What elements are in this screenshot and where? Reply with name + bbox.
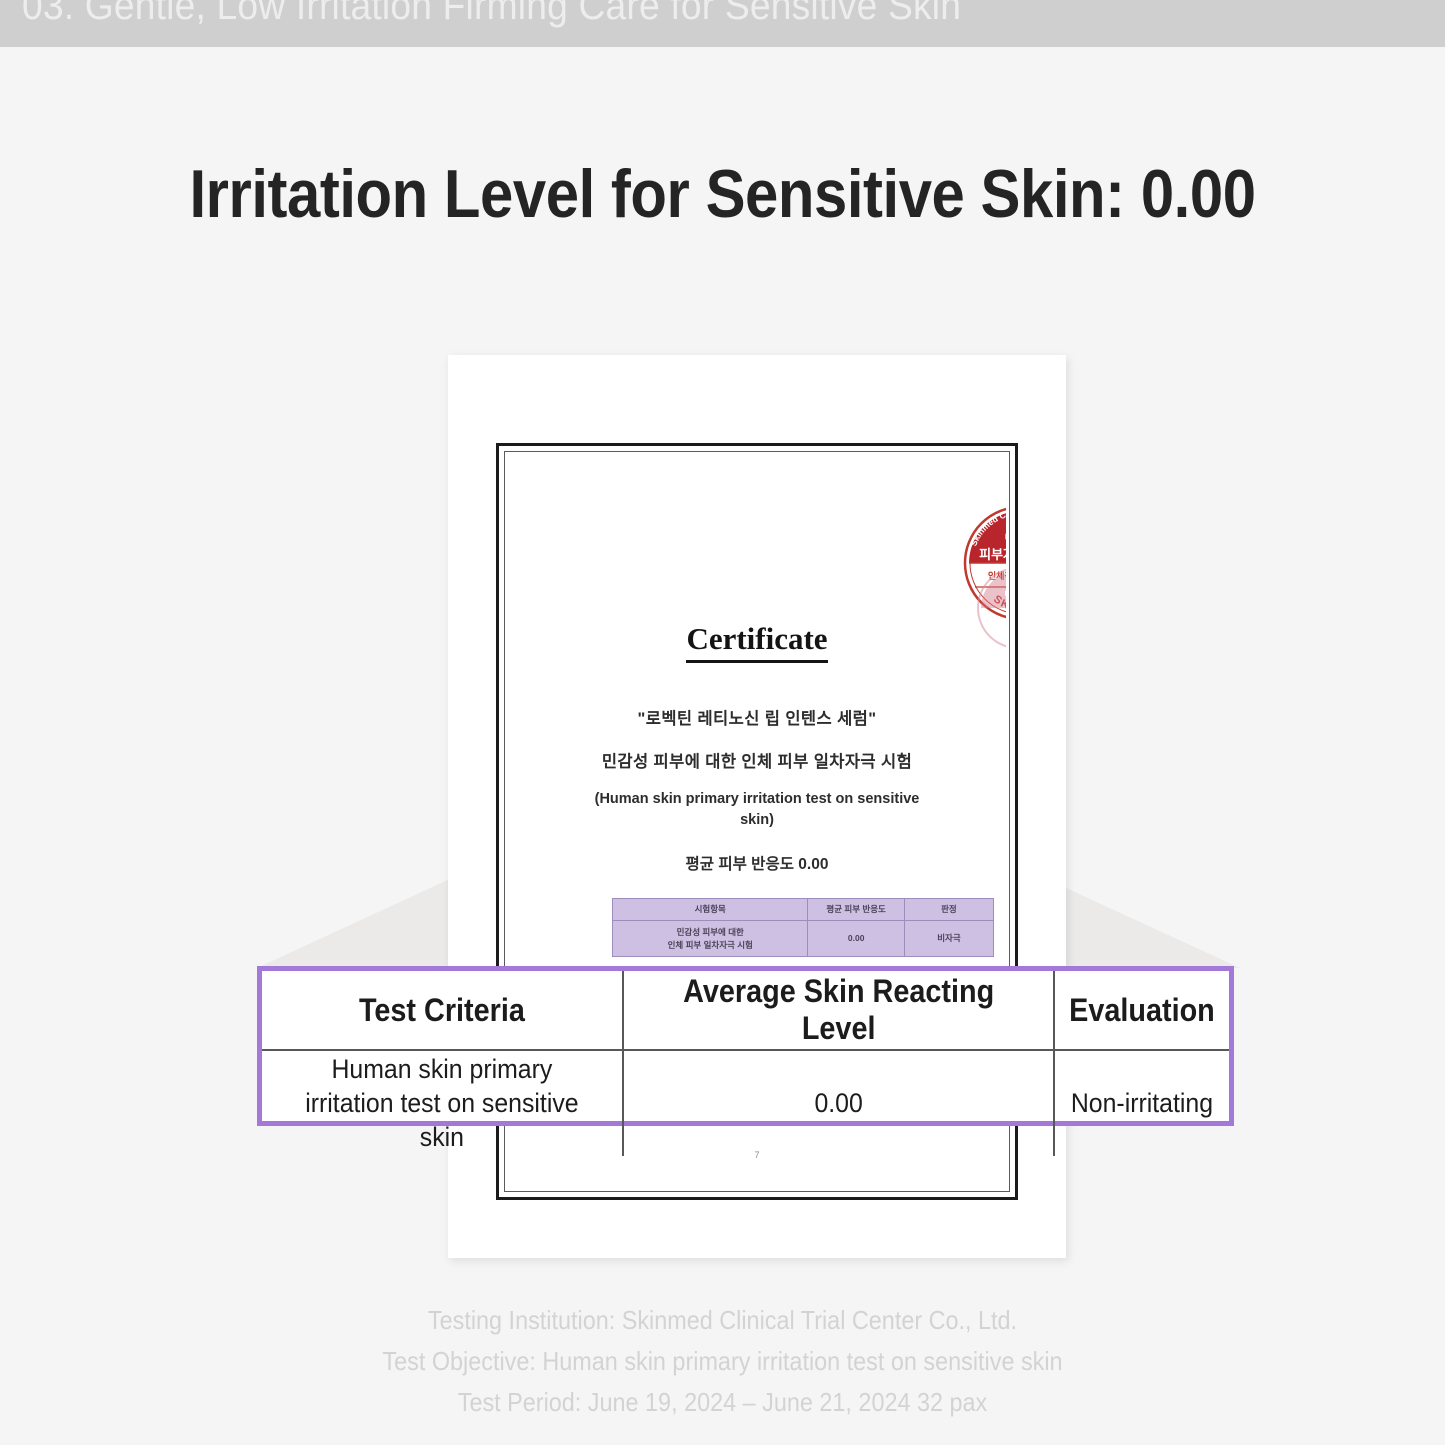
page-title: Irritation Level for Sensitive Skin: 0.0… xyxy=(87,155,1359,233)
mini-table-header-level: 평균 피부 반응도 xyxy=(808,899,904,921)
certificate-result-table: 시험항목 평균 피부 반응도 판정 민감성 피부에 대한인체 피부 일차자극 시… xyxy=(612,898,994,957)
mini-table-cell-evaluation: 비자극 xyxy=(904,920,993,957)
certificate-test-name-en: (Human skin primary irritation test on s… xyxy=(578,789,936,831)
section-banner: 03. Gentle, Low Irritation Firming Care … xyxy=(0,0,1445,47)
criteria-line-1: Human skin primary xyxy=(331,1054,552,1084)
certificate-test-name-ko: 민감성 피부에 대한 인체 피부 일차자극 시험 xyxy=(508,748,1006,772)
mini-table-header-criteria: 시험항목 xyxy=(613,899,808,921)
certificate-heading: Certificate xyxy=(508,621,1006,657)
overlay-header-evaluation: Evaluation xyxy=(1063,971,1221,1050)
mini-table-cell-level: 0.00 xyxy=(808,920,904,957)
footer-test-period: Test Period: June 19, 2024 – June 21, 20… xyxy=(72,1382,1373,1423)
criteria-line-2: irritation test on sensitive skin xyxy=(305,1088,578,1152)
banner-title: 03. Gentle, Low Irritation Firming Care … xyxy=(22,0,961,29)
mini-table-cell-criteria: 민감성 피부에 대한인체 피부 일차자극 시험 xyxy=(613,920,808,957)
table-row: 민감성 피부에 대한인체 피부 일차자극 시험 0.00 비자극 xyxy=(613,920,994,957)
overlay-header-test-criteria: Test Criteria xyxy=(280,971,605,1050)
certificate-average-reaction: 평균 피부 반응도 0.00 xyxy=(508,852,1006,874)
svg-text:민감성: 민감성 xyxy=(1004,531,1006,546)
svg-text:민감성: 민감성 xyxy=(1004,589,1006,602)
magnified-result-table: Test Criteria Average Skin Reacting Leve… xyxy=(257,966,1234,1126)
footer-info: Testing Institution: Skinmed Clinical Tr… xyxy=(72,1300,1373,1423)
table-row: 시험항목 평균 피부 반응도 판정 xyxy=(613,899,994,921)
mini-table-header-evaluation: 판정 xyxy=(904,899,993,921)
table-header-row: Test Criteria Average Skin Reacting Leve… xyxy=(262,971,1229,1050)
overlay-cell-average-level: 0.00 xyxy=(640,1050,1037,1156)
table-row: Human skin primary irritation test on se… xyxy=(262,1050,1229,1156)
certificate-heading-text: Certificate xyxy=(686,621,827,663)
overlay-header-average-level: Average Skin Reacting Level xyxy=(644,971,1032,1050)
footer-testing-institution: Testing Institution: Skinmed Clinical Tr… xyxy=(72,1300,1373,1341)
overlay-cell-test-criteria: Human skin primary irritation test on se… xyxy=(276,1050,608,1156)
footer-test-objective: Test Objective: Human skin primary irrit… xyxy=(72,1341,1373,1382)
certificate-product-name: "로벡틴 레티노신 립 인텐스 세럼" xyxy=(508,705,1006,729)
overlay-cell-evaluation: Non-irritating xyxy=(1061,1050,1222,1156)
